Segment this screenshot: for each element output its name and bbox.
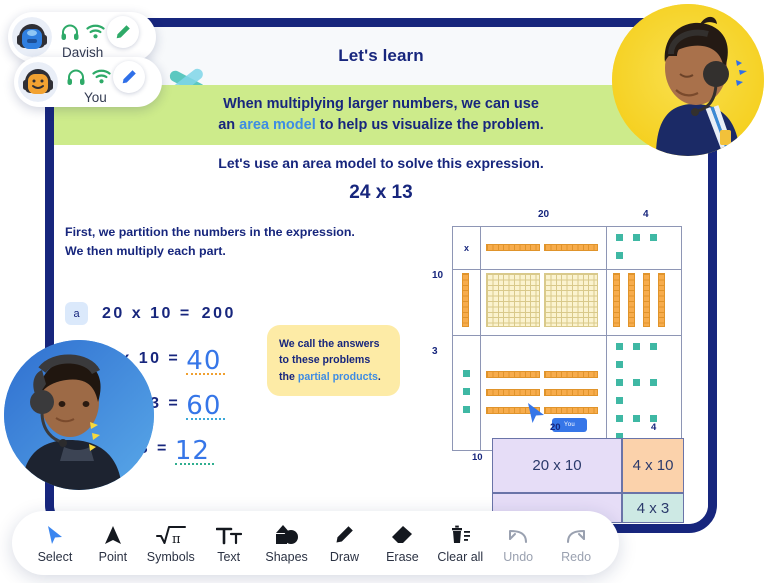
step-answer-handwritten: 12: [175, 436, 210, 466]
top-ones-cell: [607, 227, 682, 270]
tool-label: Erase: [386, 550, 419, 564]
trash-icon: [449, 523, 471, 545]
tool-label: Select: [38, 550, 73, 564]
tutor-avatar: [612, 4, 764, 156]
left-ones-cell: [453, 336, 481, 451]
avatar: [12, 17, 52, 57]
tutor-video-tile[interactable]: [612, 4, 764, 156]
tool-select[interactable]: Select: [26, 523, 84, 564]
instruction-text: First, we partition the numbers in the e…: [65, 223, 395, 261]
headphones-icon: [61, 24, 79, 40]
instruction-line-1: First, we partition the numbers in the e…: [65, 223, 395, 242]
partition-row-top: 20 x 10 4 x 10: [492, 438, 692, 493]
partition-area-model: 20 4 10 20 x 10 4 x 10 4 x 3: [492, 422, 692, 523]
partition-column-labels: 20 4: [492, 422, 692, 438]
tool-text[interactable]: Text: [200, 523, 258, 564]
tip-line-3: the partial products.: [279, 369, 388, 385]
tool-label: Clear all: [437, 550, 483, 564]
point-arrow-icon: [104, 523, 122, 545]
cursor-arrow-icon: [526, 402, 546, 424]
area-model-highlight: area model: [239, 117, 316, 133]
tool-label: Shapes: [265, 550, 307, 564]
step-answer-handwritten: 40: [186, 346, 221, 376]
math-symbols-icon: π: [156, 523, 186, 545]
tool-erase[interactable]: Erase: [373, 523, 431, 564]
lesson-screen: Let's learn When multiplying larger numb…: [0, 0, 768, 583]
corner-cell: x: [453, 227, 481, 270]
tool-undo[interactable]: Undo: [489, 523, 547, 564]
tool-label: Text: [217, 550, 240, 564]
cursor-arrow-icon: [46, 523, 64, 545]
text-format-icon: [216, 523, 242, 545]
pencil-icon: [115, 24, 131, 40]
col-label-20: 20: [550, 422, 561, 433]
tip-line-2: to these problems: [279, 352, 388, 368]
pen-tool-indicator[interactable]: [107, 16, 139, 48]
left-tens-cell: [453, 270, 481, 336]
pencil-icon: [121, 69, 137, 85]
tool-redo[interactable]: Redo: [547, 523, 605, 564]
status-icons: [61, 24, 105, 40]
step-answer-handwritten: 60: [186, 391, 221, 421]
cell-4x10[interactable]: 4 x 10: [622, 438, 684, 493]
hundreds-flats-cell: [481, 270, 607, 336]
pencil-icon: [334, 523, 354, 545]
col-label-20: 20: [538, 209, 549, 220]
instruction-line-2: We then multiply each part.: [65, 242, 395, 261]
avatar: [18, 62, 58, 102]
top-tens-cell: [481, 227, 607, 270]
tip-callout: We call the answers to these problems th…: [267, 325, 400, 396]
tool-label: Draw: [330, 550, 359, 564]
step-equation: 20 x 10 =: [102, 305, 192, 323]
tool-toolbar: Select Point π Symbols: [12, 511, 619, 575]
right-tens-rods-cell: [607, 270, 682, 336]
step-answer: 200: [202, 305, 236, 323]
tool-draw[interactable]: Draw: [316, 523, 374, 564]
base-ten-column-labels: 20 4: [452, 209, 682, 226]
col-label-4: 4: [651, 422, 656, 433]
tool-label: Symbols: [147, 550, 195, 564]
eraser-icon: [391, 523, 413, 545]
row-label-10: 10: [472, 452, 483, 463]
tool-label: Point: [99, 550, 128, 564]
page-title: Let's learn: [338, 46, 423, 66]
shapes-icon: [275, 523, 299, 545]
svg-text:π: π: [172, 532, 181, 545]
lesson-subline: Let's use an area model to solve this ex…: [54, 155, 708, 171]
participant-badge-you[interactable]: You: [14, 57, 162, 107]
tool-label: Undo: [503, 550, 533, 564]
wifi-icon: [92, 69, 111, 84]
cell-20x10[interactable]: 20 x 10: [492, 438, 622, 493]
redo-arrow-icon: [565, 523, 587, 545]
step-tag: a: [65, 302, 88, 325]
participant-badge-davish[interactable]: Davish: [8, 12, 156, 62]
base-ten-block-model: 20 4 10 3 x: [452, 209, 682, 451]
banner-line-2: an area model to help us visualize the p…: [218, 115, 544, 136]
tip-line-1: We call the answers: [279, 336, 388, 352]
student-video-tile[interactable]: [4, 340, 154, 490]
main-expression: 24 x 13: [54, 182, 708, 204]
row-label-3: 3: [432, 346, 438, 357]
remote-cursor: You: [526, 402, 546, 424]
tool-label: Redo: [561, 550, 591, 564]
wifi-icon: [86, 24, 105, 39]
student-avatar: [4, 340, 154, 490]
cell-4x3[interactable]: 4 x 3: [622, 493, 684, 523]
participant-name: You: [84, 90, 107, 105]
pen-tool-indicator[interactable]: [113, 61, 145, 93]
col-label-4: 4: [643, 209, 649, 220]
tool-clear-all[interactable]: Clear all: [431, 523, 489, 564]
tool-point[interactable]: Point: [84, 523, 142, 564]
undo-arrow-icon: [507, 523, 529, 545]
sparkle-icon: [736, 60, 747, 86]
tool-shapes[interactable]: Shapes: [258, 523, 316, 564]
status-icons: [67, 69, 111, 85]
banner-line-1: When multiplying larger numbers, we can …: [223, 94, 539, 115]
tool-symbols[interactable]: π Symbols: [142, 523, 200, 564]
partial-products-highlight: partial products: [298, 371, 378, 383]
row-label-10: 10: [432, 270, 443, 281]
headphones-icon: [67, 69, 85, 85]
